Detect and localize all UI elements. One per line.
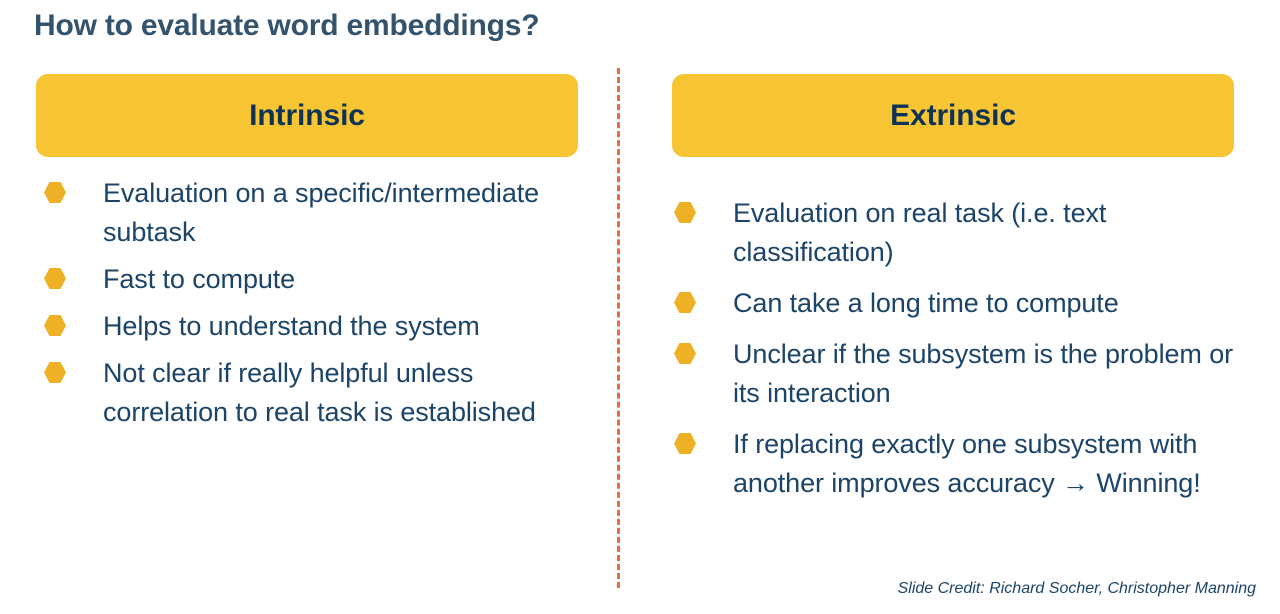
column-header-extrinsic: Extrinsic xyxy=(672,74,1234,157)
list-item: Evaluation on real task (i.e. text class… xyxy=(672,194,1234,272)
list-item-label: Unclear if the subsystem is the problem … xyxy=(733,335,1234,413)
list-item: Not clear if really helpful unless corre… xyxy=(36,354,578,432)
list-item: If replacing exactly one subsystem with … xyxy=(672,425,1234,503)
list-item-label: If replacing exactly one subsystem with … xyxy=(733,425,1234,503)
hexagon-bullet-icon xyxy=(44,362,66,383)
list-item-label: Can take a long time to compute xyxy=(733,284,1119,323)
list-item: Fast to compute xyxy=(36,260,578,299)
page-title: How to evaluate word embeddings? xyxy=(34,9,539,43)
hexagon-bullet-icon xyxy=(674,202,696,223)
bullet-list-extrinsic: Evaluation on real task (i.e. text class… xyxy=(672,194,1234,503)
bullet-list-intrinsic: Evaluation on a specific/intermediate su… xyxy=(36,174,578,432)
list-item-label: Evaluation on real task (i.e. text class… xyxy=(733,194,1234,272)
hexagon-bullet-icon xyxy=(674,343,696,364)
list-item: Evaluation on a specific/intermediate su… xyxy=(36,174,578,252)
column-header-intrinsic: Intrinsic xyxy=(36,74,578,157)
column-extrinsic: Extrinsic Evaluation on real task (i.e. … xyxy=(672,74,1234,515)
list-item: Unclear if the subsystem is the problem … xyxy=(672,335,1234,413)
hexagon-bullet-icon xyxy=(44,182,66,203)
column-divider xyxy=(617,68,620,588)
hexagon-bullet-icon xyxy=(674,292,696,313)
list-item: Can take a long time to compute xyxy=(672,284,1234,323)
list-item-label: Evaluation on a specific/intermediate su… xyxy=(103,174,578,252)
column-header-label: Intrinsic xyxy=(249,99,365,133)
hexagon-bullet-icon xyxy=(44,268,66,289)
hexagon-bullet-icon xyxy=(44,315,66,336)
list-item-label: Fast to compute xyxy=(103,260,295,299)
list-item-label: Not clear if really helpful unless corre… xyxy=(103,354,578,432)
column-intrinsic: Intrinsic Evaluation on a specific/inter… xyxy=(36,74,578,440)
list-item: Helps to understand the system xyxy=(36,307,578,346)
slide-credit: Slide Credit: Richard Socher, Christophe… xyxy=(898,580,1256,598)
list-item-label: Helps to understand the system xyxy=(103,307,480,346)
hexagon-bullet-icon xyxy=(674,433,696,454)
column-header-label: Extrinsic xyxy=(890,99,1016,133)
